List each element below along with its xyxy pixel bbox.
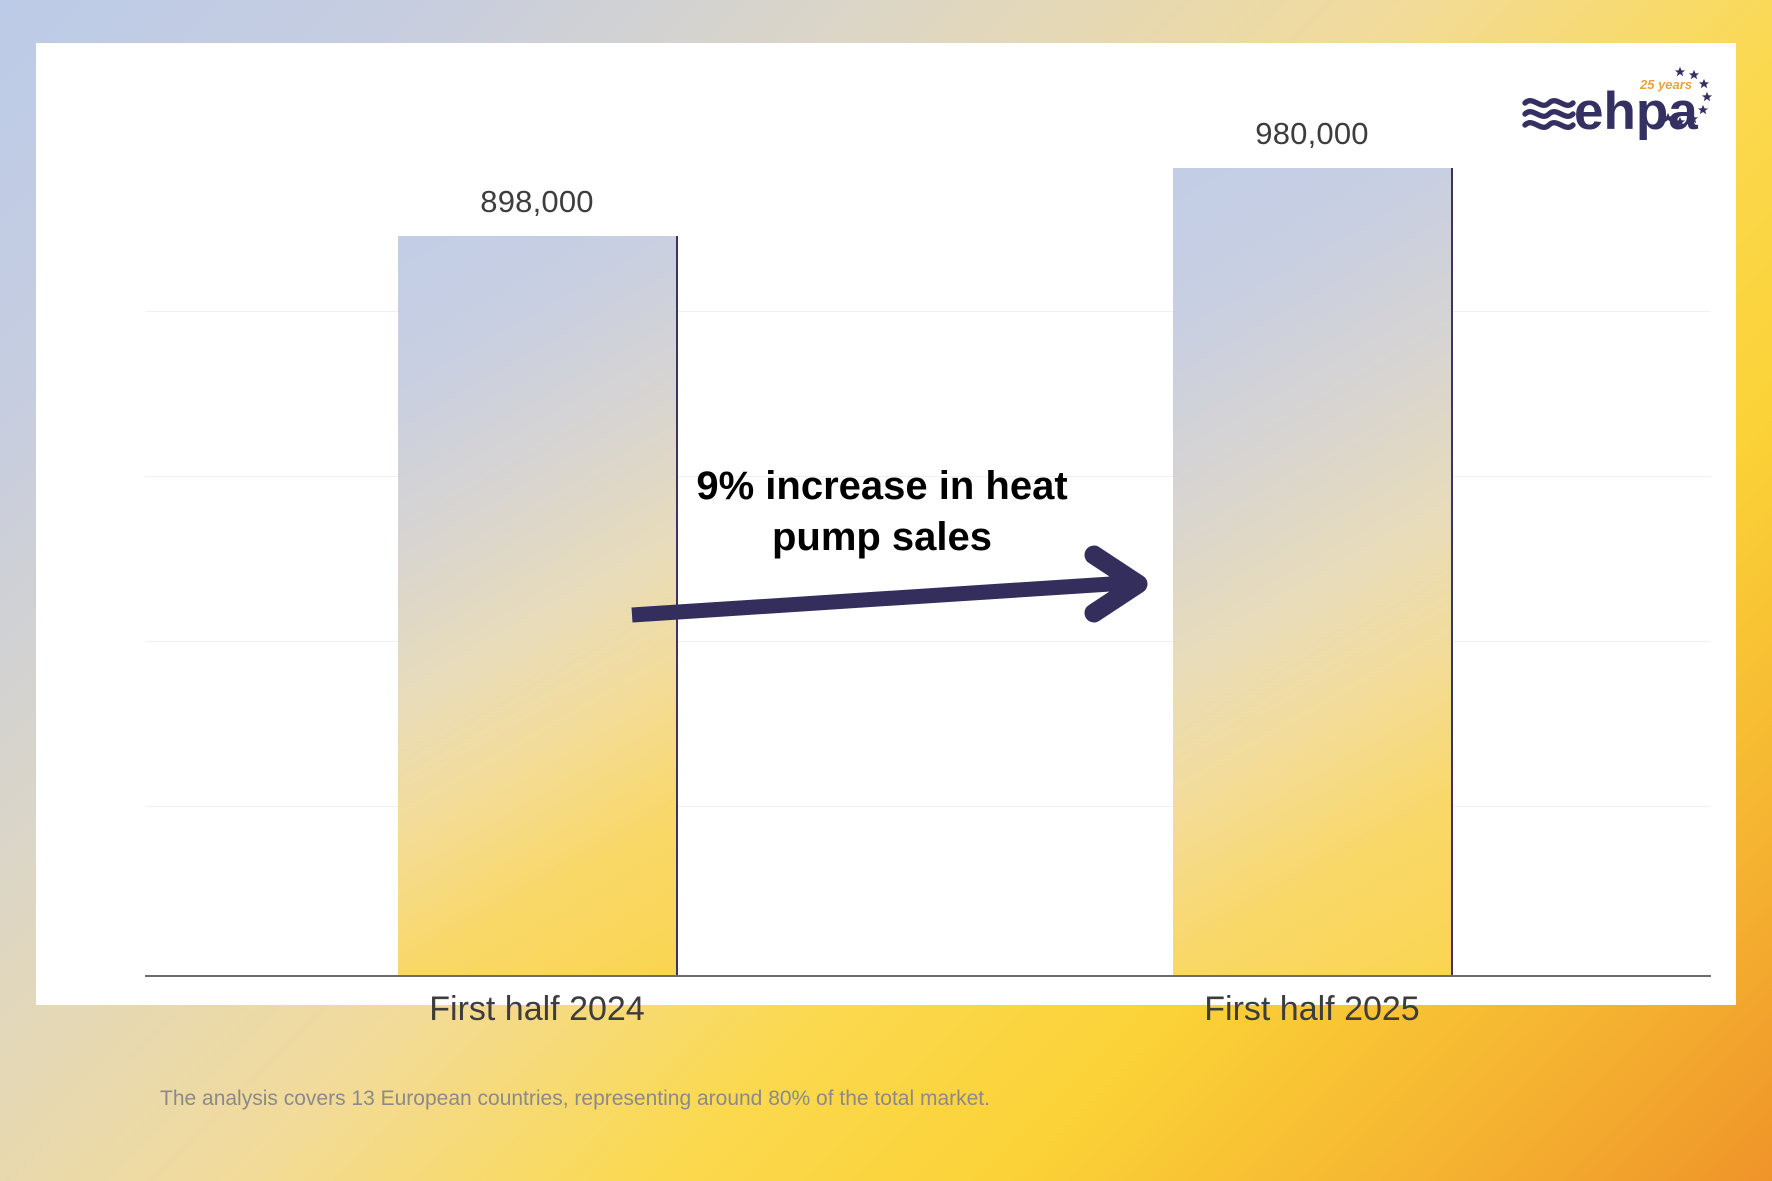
slide-card: ehpa 25 years 898,000 — [36, 43, 1736, 1005]
x-axis-line — [145, 975, 1711, 977]
bar-value-label-2025: 980,000 — [1173, 116, 1451, 152]
growth-arrow-icon — [626, 543, 1166, 633]
x-tick-label-2024: First half 2024 — [368, 990, 706, 1029]
bar-first-half-2025[interactable] — [1173, 168, 1453, 975]
x-tick-label-2025: First half 2025 — [1143, 990, 1481, 1029]
gridline — [145, 806, 1711, 807]
footnote-text: The analysis covers 13 European countrie… — [160, 1087, 990, 1111]
gridline — [145, 311, 1711, 312]
annotation-line-1: 9% increase in heat — [672, 461, 1092, 512]
bar-value-label-2024: 898,000 — [398, 184, 676, 220]
gridline — [145, 641, 1711, 642]
